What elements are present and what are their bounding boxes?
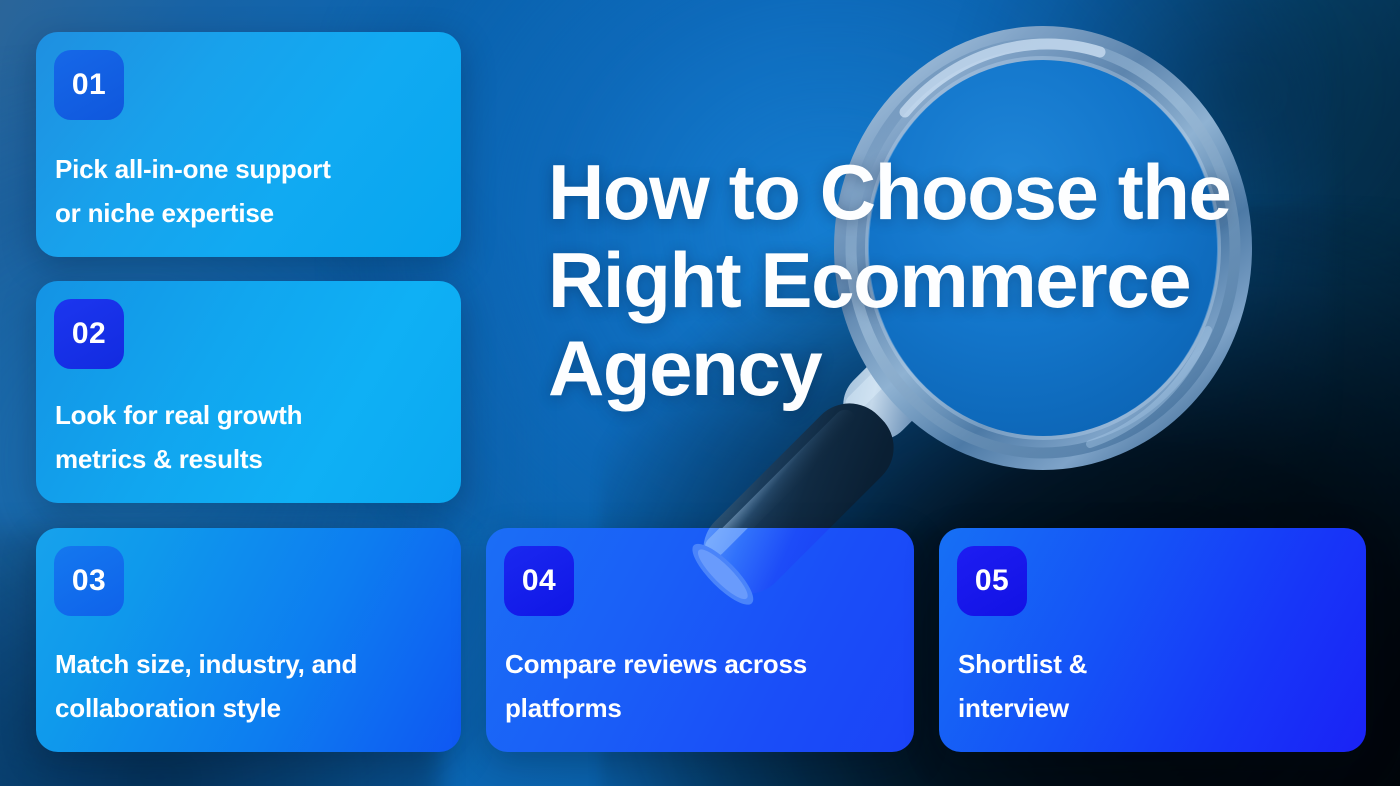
infographic-canvas: How to Choose the Right Ecommerce Agency… (0, 0, 1400, 786)
step-number-badge: 01 (54, 50, 124, 120)
step-card-01[interactable]: 01 Pick all-in-one support or niche expe… (36, 32, 461, 257)
card-body: 04 Compare reviews across platforms (486, 528, 914, 752)
step-card-02[interactable]: 02 Look for real growth metrics & result… (36, 281, 461, 503)
step-number-badge: 04 (504, 546, 574, 616)
card-body: 05 Shortlist & interview (939, 528, 1366, 752)
card-body: 02 Look for real growth metrics & result… (36, 281, 461, 503)
step-card-text: Shortlist & interview (958, 642, 1350, 730)
card-body: 01 Pick all-in-one support or niche expe… (36, 32, 461, 257)
step-number-badge: 03 (54, 546, 124, 616)
step-card-04[interactable]: 04 Compare reviews across platforms (486, 528, 914, 752)
step-card-text: Pick all-in-one support or niche experti… (55, 147, 445, 235)
step-card-text: Look for real growth metrics & results (55, 393, 445, 481)
step-number-badge: 05 (957, 546, 1027, 616)
step-card-05[interactable]: 05 Shortlist & interview (939, 528, 1366, 752)
step-card-text: Compare reviews across platforms (505, 642, 898, 730)
card-body: 03 Match size, industry, and collaborati… (36, 528, 461, 752)
page-title: How to Choose the Right Ecommerce Agency (548, 148, 1348, 412)
step-number-badge: 02 (54, 299, 124, 369)
step-card-text: Match size, industry, and collaboration … (55, 642, 445, 730)
step-card-03[interactable]: 03 Match size, industry, and collaborati… (36, 528, 461, 752)
